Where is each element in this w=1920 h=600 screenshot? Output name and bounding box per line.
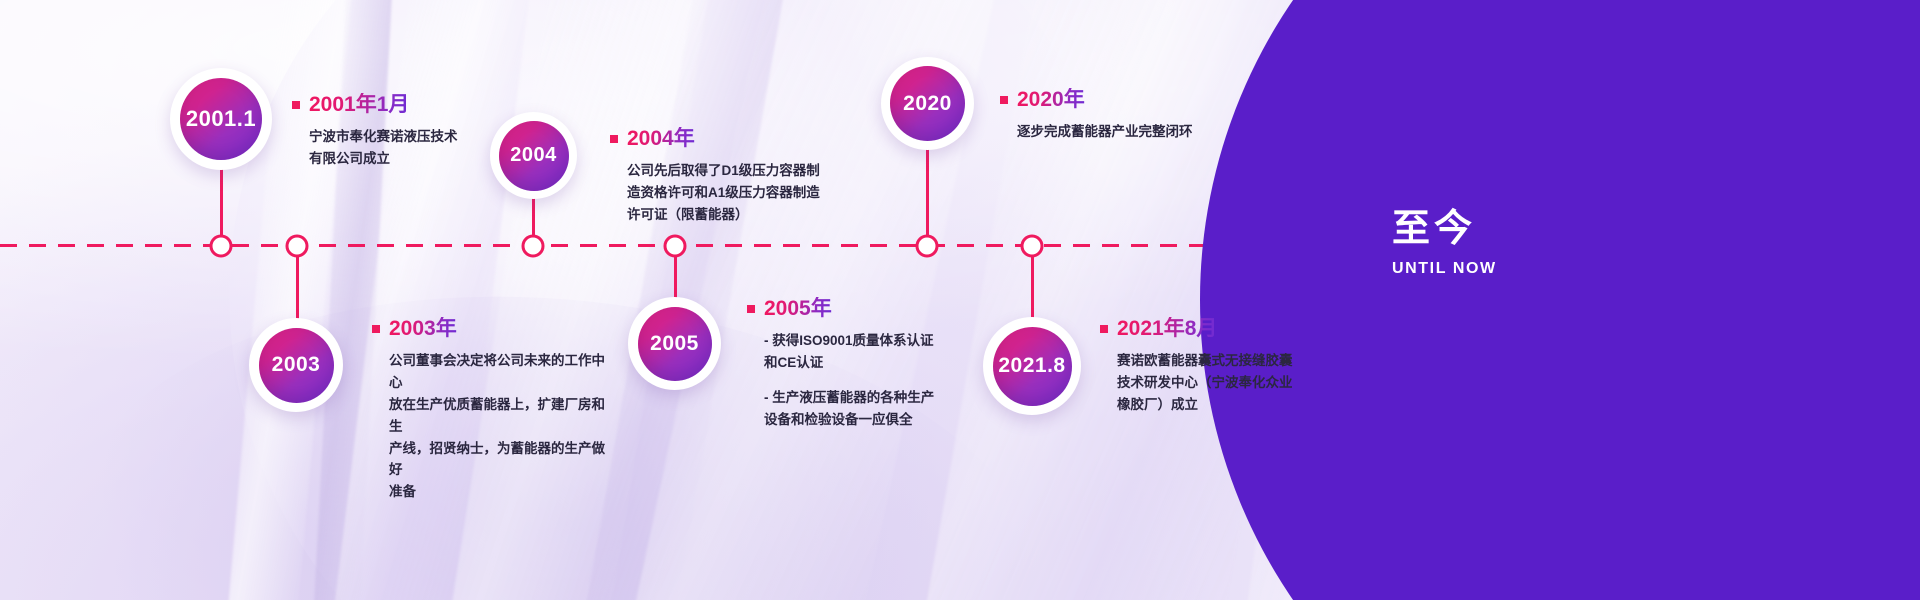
until-now-title-en: UNTIL NOW <box>1392 260 1632 278</box>
entry-header: 2021年8月 <box>1100 317 1335 341</box>
badge-label: 2021.8 <box>993 327 1072 406</box>
entry-header: 2001年1月 <box>292 93 482 117</box>
timeline-node[interactable] <box>916 235 939 258</box>
timeline-node[interactable] <box>664 235 687 258</box>
timeline-entry-2003: 2003年 公司董事会决定将公司未来的工作中心 放在生产优质蓄能器上，扩建厂房和… <box>372 317 612 503</box>
bullet-square-icon <box>372 325 380 333</box>
timeline-node[interactable] <box>1021 235 1044 258</box>
badge-label: 2020 <box>890 66 965 141</box>
entry-paragraph: 宁波市奉化赛诺液压技术 有限公司成立 <box>309 126 482 170</box>
badge-label: 2004 <box>499 121 569 191</box>
timeline-node[interactable] <box>210 235 233 258</box>
entry-paragraph: 公司先后取得了D1级压力容器制 造资格许可和A1级压力容器制造 许可证（限蓄能器… <box>627 160 840 226</box>
timeline-node[interactable] <box>522 235 545 258</box>
timeline-node[interactable] <box>286 235 309 258</box>
badge-label: 2005 <box>638 307 712 381</box>
entry-body: 赛诺欧蓄能器囊式无接缝胶囊 技术研发中心（宁波奉化众业 橡胶厂）成立 <box>1100 350 1335 416</box>
timeline-infographic: 2001.1 2003 2004 2005 2020 2021.8 2001年1… <box>0 0 1920 600</box>
entry-title: 2020年 <box>1017 88 1085 112</box>
timeline-entry-2020: 2020年 逐步完成蓄能器产业完整闭环 <box>1000 88 1290 143</box>
entry-paragraph: - 获得ISO9001质量体系认证 和CE认证 <box>764 330 977 374</box>
timeline-entry-2005: 2005年 - 获得ISO9001质量体系认证 和CE认证 - 生产液压蓄能器的… <box>747 297 977 431</box>
entry-header: 2003年 <box>372 317 612 341</box>
timeline-entry-2001-1: 2001年1月 宁波市奉化赛诺液压技术 有限公司成立 <box>292 93 482 170</box>
entry-title: 2021年8月 <box>1117 317 1217 341</box>
entry-paragraph: 逐步完成蓄能器产业完整闭环 <box>1017 121 1290 143</box>
entry-title: 2004年 <box>627 127 695 151</box>
entry-paragraph: - 生产液压蓄能器的各种生产 设备和检验设备一应俱全 <box>764 387 977 431</box>
entry-body: 逐步完成蓄能器产业完整闭环 <box>1000 121 1290 143</box>
entry-header: 2020年 <box>1000 88 1290 112</box>
entry-paragraph: 公司董事会决定将公司未来的工作中心 放在生产优质蓄能器上，扩建厂房和生 产线，招… <box>389 350 612 503</box>
badge-label: 2003 <box>259 328 334 403</box>
bullet-square-icon <box>292 101 300 109</box>
entry-header: 2004年 <box>610 127 840 151</box>
badge-label: 2001.1 <box>180 78 262 160</box>
entry-body: 公司董事会决定将公司未来的工作中心 放在生产优质蓄能器上，扩建厂房和生 产线，招… <box>372 350 612 503</box>
timeline-stem <box>926 140 929 246</box>
bullet-square-icon <box>610 135 618 143</box>
entry-title: 2005年 <box>764 297 832 321</box>
bullet-square-icon <box>747 305 755 313</box>
entry-body: 公司先后取得了D1级压力容器制 造资格许可和A1级压力容器制造 许可证（限蓄能器… <box>610 160 840 226</box>
timeline-entry-2021-8: 2021年8月 赛诺欧蓄能器囊式无接缝胶囊 技术研发中心（宁波奉化众业 橡胶厂）… <box>1100 317 1335 416</box>
timeline-badge-2021-8[interactable]: 2021.8 <box>983 317 1081 415</box>
timeline-badge-2003[interactable]: 2003 <box>249 318 343 412</box>
timeline-badge-2004[interactable]: 2004 <box>490 112 577 199</box>
entry-header: 2005年 <box>747 297 977 321</box>
entry-title: 2001年1月 <box>309 93 409 117</box>
timeline-badge-2001-1[interactable]: 2001.1 <box>170 68 272 170</box>
until-now-title-cn: 至今 <box>1392 210 1632 248</box>
entry-body: - 获得ISO9001质量体系认证 和CE认证 - 生产液压蓄能器的各种生产 设… <box>747 330 977 430</box>
until-now-text-group: 至今 UNTIL NOW <box>1392 210 1632 278</box>
entry-title: 2003年 <box>389 317 457 341</box>
bullet-square-icon <box>1000 96 1008 104</box>
timeline-badge-2005[interactable]: 2005 <box>628 297 721 390</box>
bullet-square-icon <box>1100 325 1108 333</box>
timeline-badge-2020[interactable]: 2020 <box>881 57 974 150</box>
entry-body: 宁波市奉化赛诺液压技术 有限公司成立 <box>292 126 482 170</box>
timeline-entry-2004: 2004年 公司先后取得了D1级压力容器制 造资格许可和A1级压力容器制造 许可… <box>610 127 840 226</box>
until-now-panel <box>1200 0 1920 600</box>
entry-paragraph: 赛诺欧蓄能器囊式无接缝胶囊 技术研发中心（宁波奉化众业 橡胶厂）成立 <box>1117 350 1335 416</box>
